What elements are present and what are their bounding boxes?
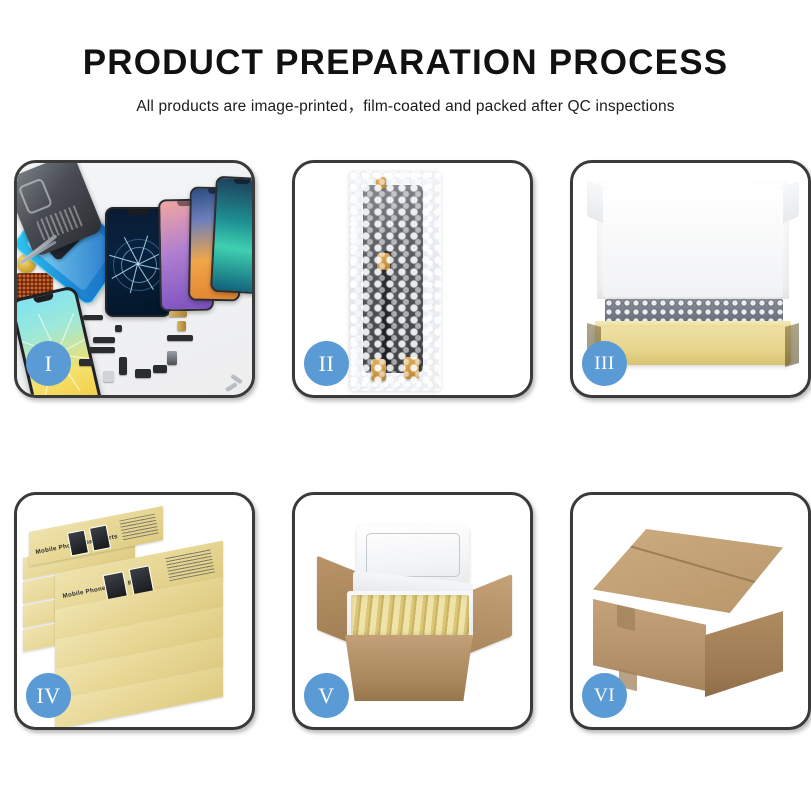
step-panel-6[interactable]: VI	[570, 492, 811, 730]
step-panel-2[interactable]: II	[292, 160, 533, 398]
bubble-texture-highlight	[349, 171, 441, 391]
phone-notch	[33, 293, 54, 303]
carton-tape-upper	[617, 605, 635, 631]
carton-front	[341, 635, 477, 701]
page-subtitle: All products are image-printed，film-coat…	[0, 94, 811, 116]
small-part	[153, 365, 167, 373]
step-badge-1: I	[26, 341, 71, 386]
small-part	[115, 325, 122, 332]
small-part	[83, 315, 103, 320]
small-part	[225, 382, 237, 391]
step-panel-4[interactable]: Mobile Phone Spare Parts Mobile Phone Sp…	[14, 492, 255, 730]
step-badge-2: II	[304, 341, 349, 386]
page-header: PRODUCT PREPARATION PROCESS All products…	[0, 0, 811, 116]
small-part	[231, 374, 243, 383]
step-panel-3[interactable]: III	[570, 160, 811, 398]
small-part	[89, 347, 115, 353]
phone-notch	[127, 209, 149, 215]
carton-top-face	[593, 529, 783, 613]
small-part	[103, 371, 114, 382]
small-part	[119, 357, 127, 375]
step-badge-3: III	[582, 341, 627, 386]
step-panel-1[interactable]: I	[14, 160, 255, 398]
process-steps-grid: I II III	[14, 160, 798, 730]
phone-teal-graphic	[210, 176, 252, 295]
carton-side-face	[705, 611, 783, 697]
gold-boxes-inside	[351, 595, 469, 635]
small-part	[177, 321, 186, 331]
small-part	[167, 351, 177, 365]
step-badge-6: VI	[582, 673, 627, 718]
page-title: PRODUCT PREPARATION PROCESS	[0, 44, 811, 83]
crack-lines	[138, 264, 140, 266]
bubble-wrap-bag	[349, 171, 441, 391]
step-badge-5: V	[304, 673, 349, 718]
small-part	[79, 359, 93, 366]
retail-box	[55, 683, 223, 713]
small-part	[167, 335, 193, 341]
step-panel-5[interactable]: V	[292, 492, 533, 730]
step-badge-4: IV	[26, 673, 71, 718]
small-part	[169, 311, 187, 317]
carton-seam	[593, 529, 783, 613]
small-part	[93, 337, 115, 343]
foam-sheet	[603, 189, 783, 297]
small-part	[135, 369, 151, 378]
